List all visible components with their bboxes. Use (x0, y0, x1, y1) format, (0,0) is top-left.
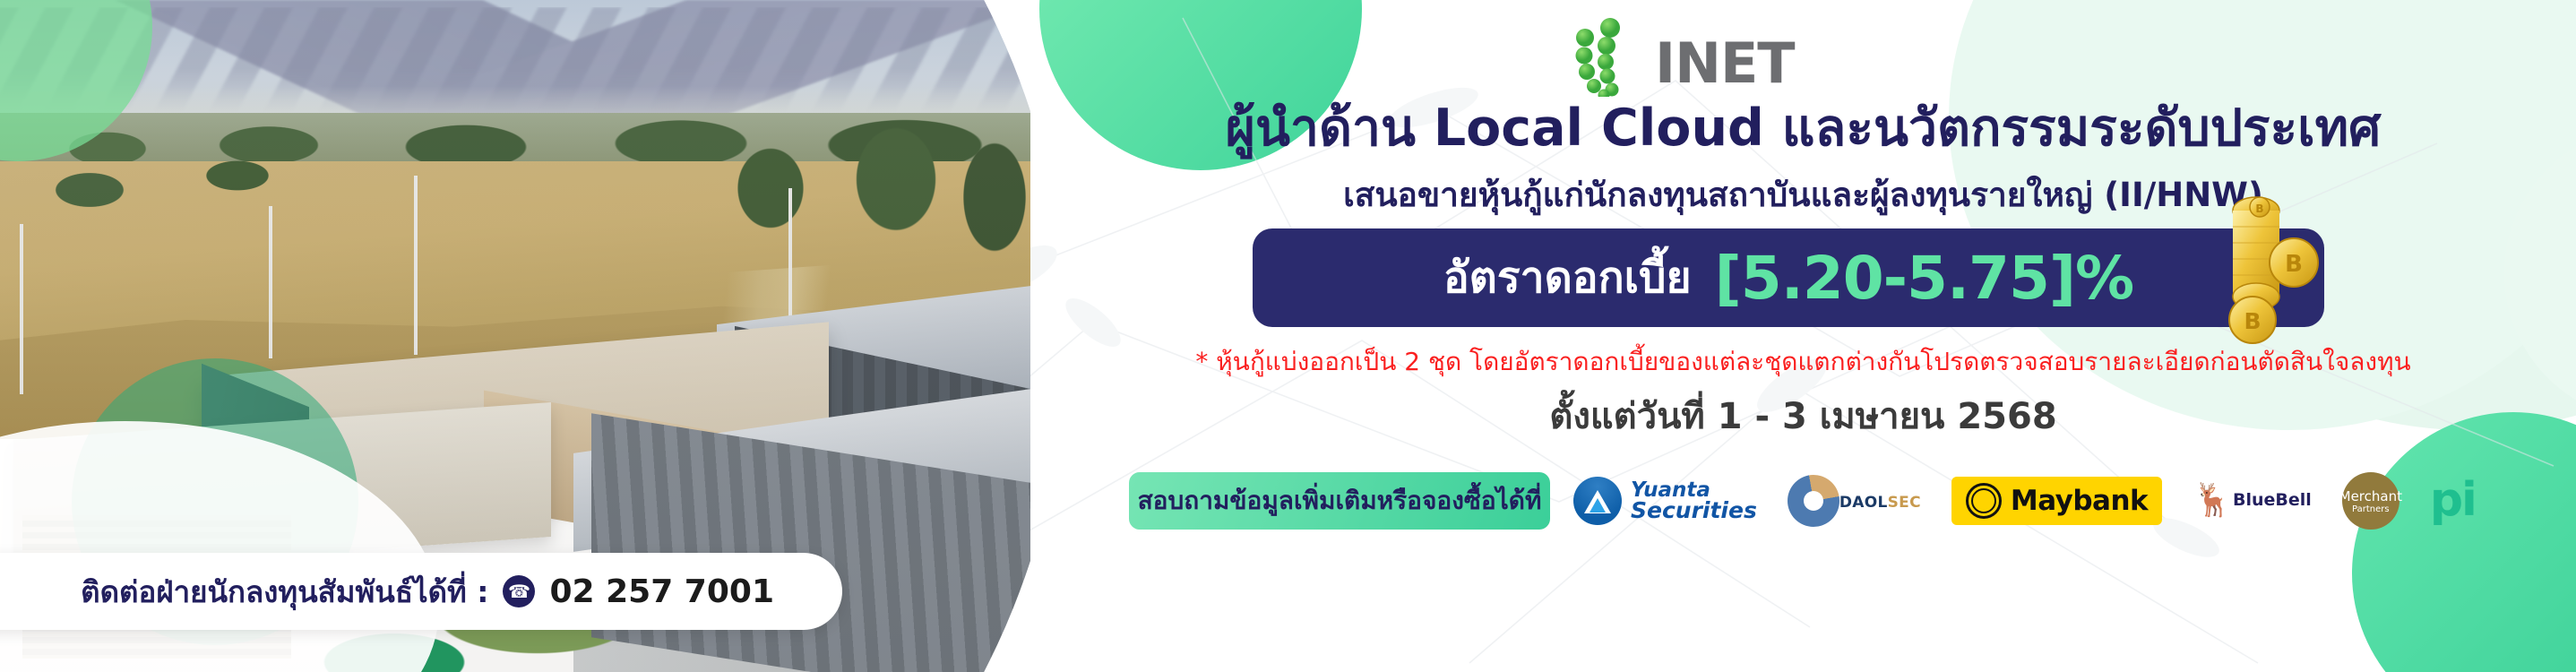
daol-text-sub: SEC (1888, 494, 1921, 512)
partner-logo-pi[interactable]: pi (2430, 482, 2476, 520)
inet-bond-offering-banner: INET ผู้นำด้าน Local Cloud และนวัตกรรมระ… (0, 0, 2576, 672)
cta-and-partners-row: สอบถามข้อมูลเพิ่มเติมหรือจองซื้อได้ที่ Y… (1030, 466, 2576, 536)
interest-rate-value: [5.20-5.75]% (1715, 244, 2134, 313)
offering-date-text: ตั้งแต่วันที่ 1 - 3 เมษายน 2568 (1030, 387, 2576, 444)
inet-dots-icon (1555, 16, 1662, 97)
svg-text:B: B (2244, 308, 2261, 334)
daol-text-main: DAOL (1839, 494, 1888, 512)
deer-icon: 🦌 (2193, 485, 2233, 517)
merchant-line-1: Merchant (2339, 488, 2402, 504)
yuanta-wordmark: Yuanta Securities (1631, 481, 1757, 521)
partner-logo-bluebell[interactable]: 🦌 BlueBell (2193, 485, 2312, 517)
daol-mark-icon (1788, 475, 1839, 527)
maybank-tiger-icon (1966, 483, 2002, 519)
inet-logo-text: INET (1655, 30, 1795, 96)
yuanta-mark-icon (1573, 477, 1622, 525)
svg-text:B: B (2255, 202, 2263, 215)
banner-content: INET ผู้นำด้าน Local Cloud และนวัตกรรมระ… (1030, 0, 2576, 672)
maybank-wordmark: Maybank (2011, 485, 2148, 517)
svg-text:B: B (2285, 251, 2303, 278)
inet-logo: INET (1555, 16, 1931, 97)
inquiry-button[interactable]: สอบถามข้อมูลเพิ่มเติมหรือจองซื้อได้ที่ (1129, 472, 1550, 530)
yuanta-line-2: Securities (1631, 500, 1757, 521)
gold-coins-icon: B B B (2201, 194, 2335, 351)
daol-wordmark: DAOLSEC (1839, 494, 1921, 512)
contact-phone-number[interactable]: 02 257 7001 (549, 573, 774, 610)
partner-logos: Yuanta Securities DAOLSEC Maybank 🦌 (1573, 472, 2476, 530)
partner-logo-maybank[interactable]: Maybank (1951, 477, 2162, 525)
partner-logo-merchant-partners[interactable]: Merchant Partners (2342, 472, 2399, 530)
page-title: ผู้นำด้าน Local Cloud และนวัตกรรมระดับปร… (1030, 100, 2576, 157)
phone-icon: ☎ (503, 575, 535, 607)
partner-logo-yuanta[interactable]: Yuanta Securities (1573, 477, 1757, 525)
investor-relations-contact-card: ติดต่อฝ่ายนักลงทุนสัมพันธ์ได้ที่ : ☎ 02 … (0, 553, 842, 630)
page-subtitle: เสนอขายหุ้นกู้แก่นักลงทุนสถาบันและผู้ลงท… (1030, 168, 2576, 221)
interest-rate-box: อัตราดอกเบี้ย [5.20-5.75]% (1253, 228, 2324, 327)
partner-logo-daol[interactable]: DAOLSEC (1788, 475, 1921, 527)
interest-rate-label: อัตราดอกเบี้ย (1443, 244, 1692, 312)
bluebell-wordmark: BlueBell (2233, 490, 2312, 510)
merchant-line-2: Partners (2352, 504, 2390, 514)
disclaimer-text: * หุ้นกู้แบ่งออกเป็น 2 ชุด โดยอัตราดอกเบ… (1030, 342, 2576, 382)
contact-label: ติดต่อฝ่ายนักลงทุนสัมพันธ์ได้ที่ : (81, 568, 488, 616)
